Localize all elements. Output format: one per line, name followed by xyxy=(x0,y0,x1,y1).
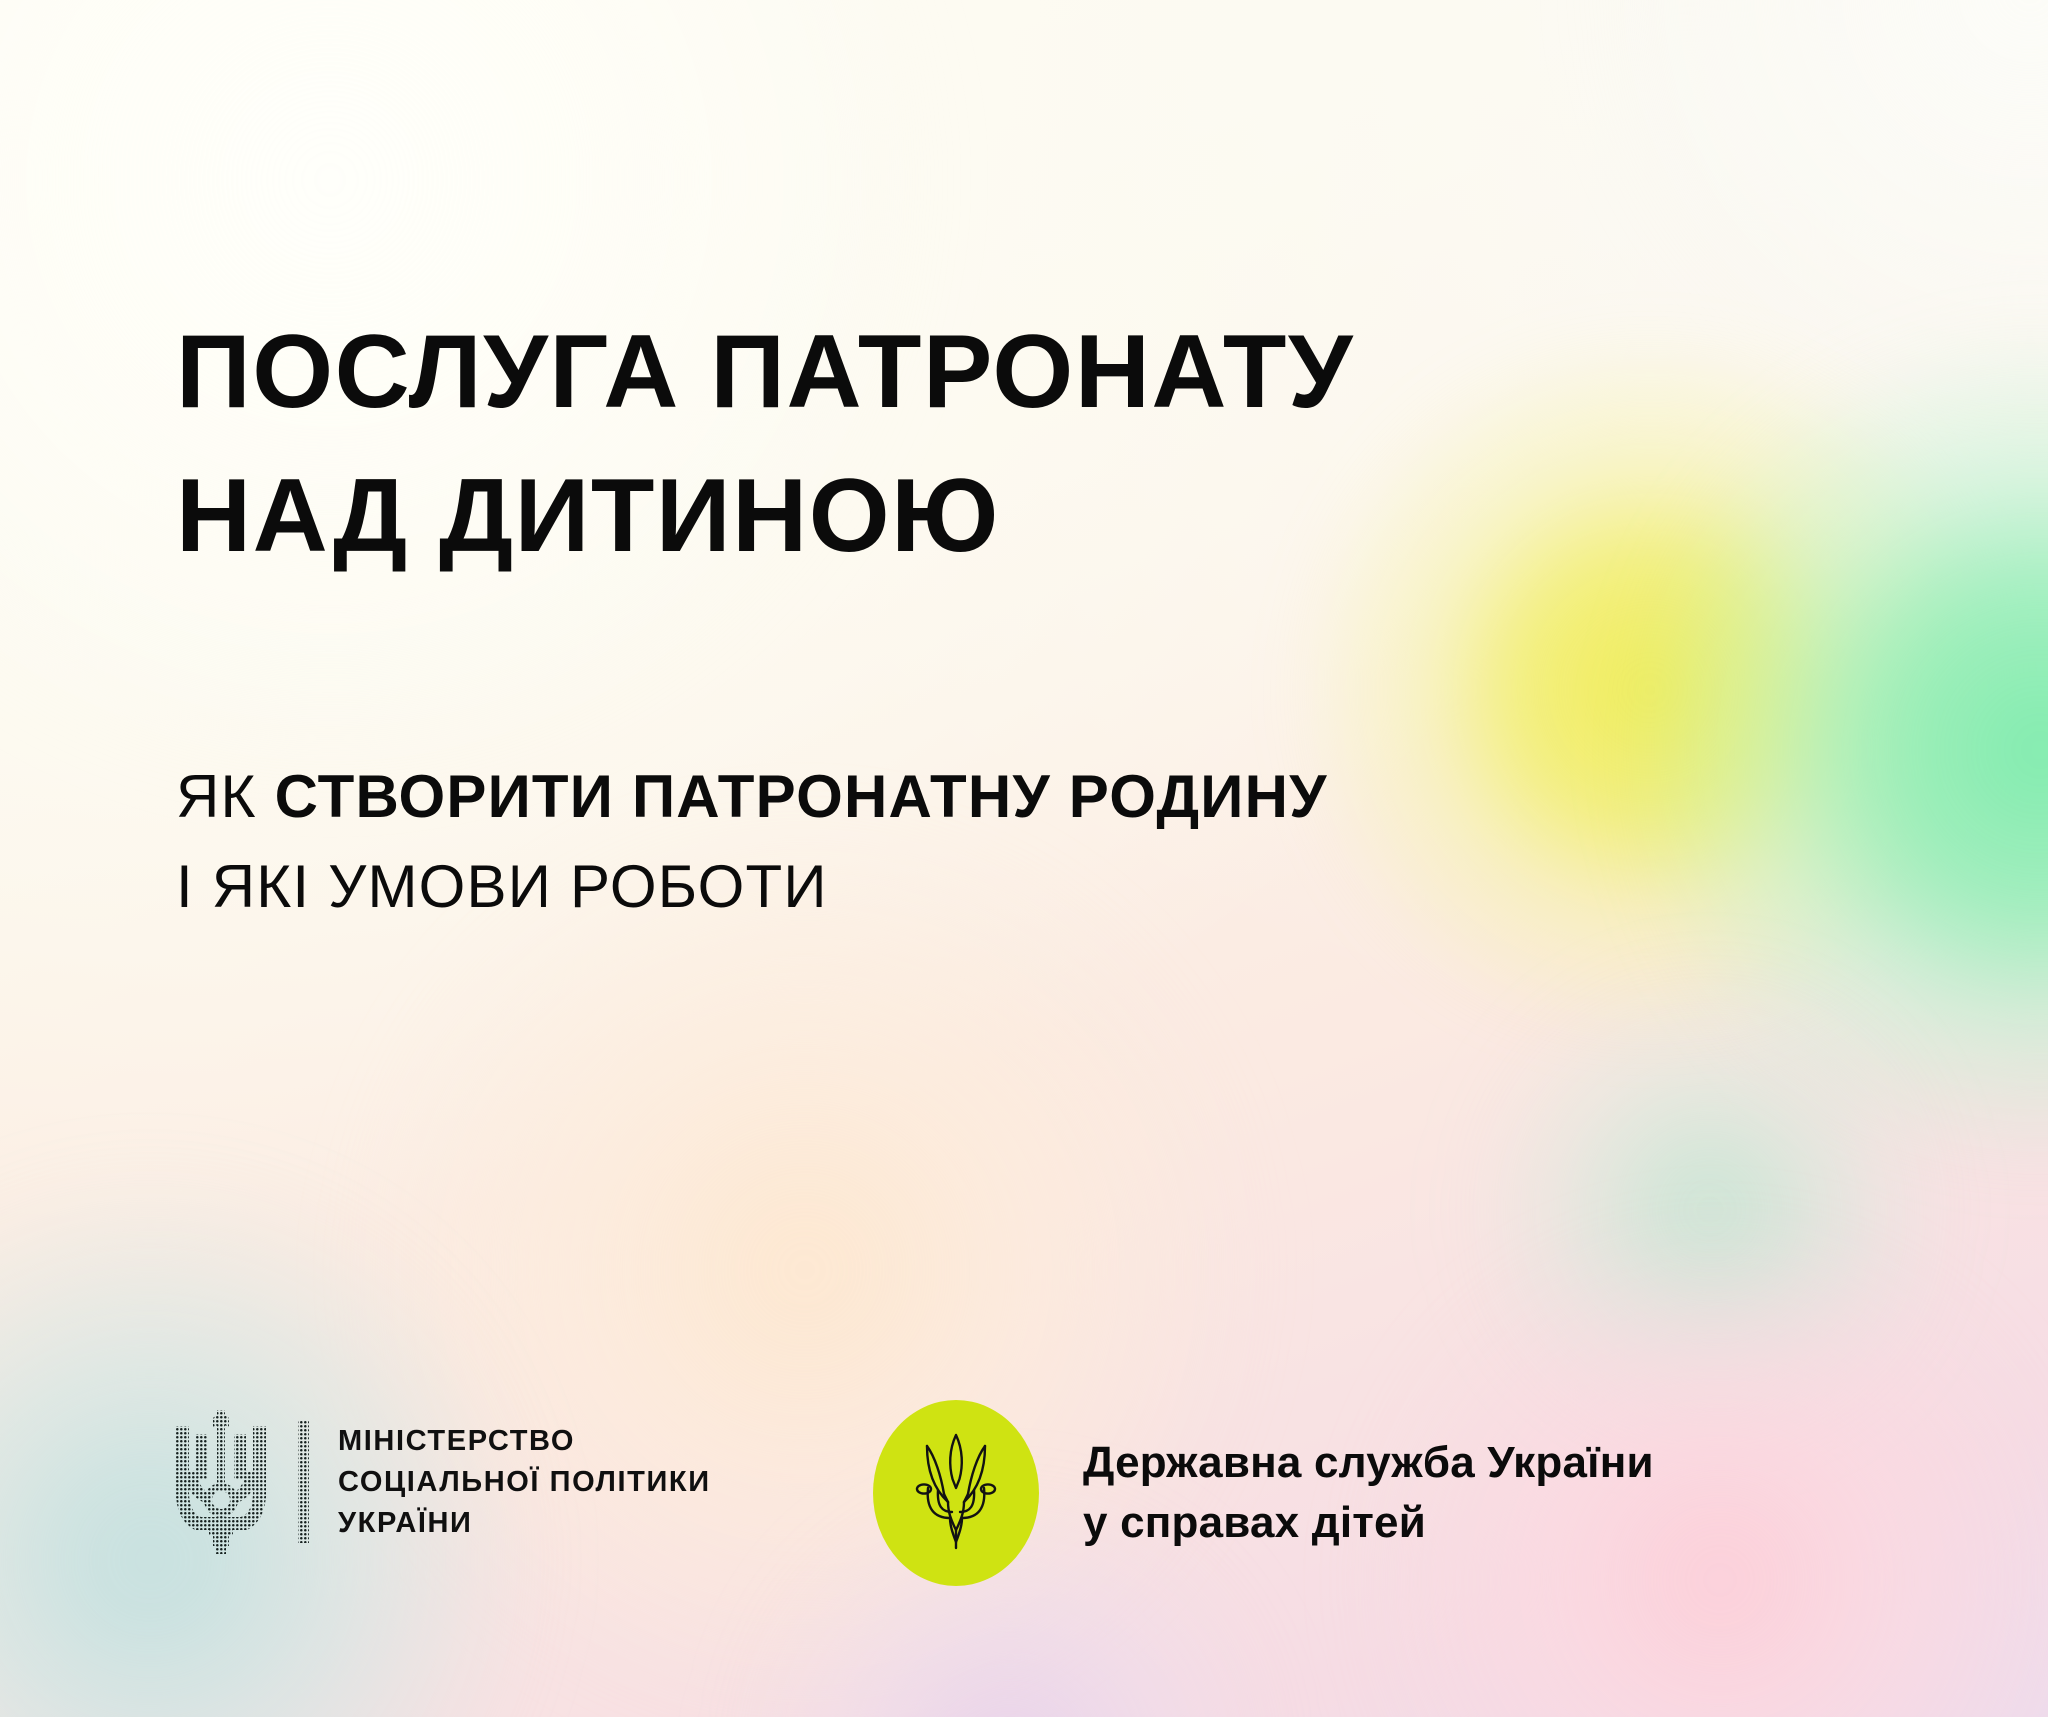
title-line-2: НАД ДИТИНОЮ xyxy=(176,444,1354,588)
ministry-name-line-2: СОЦІАЛЬНОЇ ПОЛІТИКИ xyxy=(338,1462,711,1503)
service-name-line-1: Державна служба України xyxy=(1083,1433,1654,1493)
page-title: ПОСЛУГА ПАТРОНАТУ НАД ДИТИНОЮ xyxy=(176,300,1354,588)
subtitle-line-1: ЯК СТВОРИТИ ПАТРОНАТНУ РОДИНУ xyxy=(176,755,1328,839)
service-logo-lockup: Державна служба України у справах дітей xyxy=(873,1400,1654,1586)
ministry-name: МІНІСТЕРСТВО СОЦІАЛЬНОЇ ПОЛІТИКИ УКРАЇНИ xyxy=(338,1421,711,1544)
page-subtitle: ЯК СТВОРИТИ ПАТРОНАТНУ РОДИНУ І ЯКІ УМОВ… xyxy=(176,755,1328,929)
dotted-trident-icon xyxy=(168,1408,274,1556)
service-name: Державна служба України у справах дітей xyxy=(1083,1433,1654,1553)
footer-logos: МІНІСТЕРСТВО СОЦІАЛЬНОЇ ПОЛІТИКИ УКРАЇНИ xyxy=(0,1400,2048,1600)
trident-outline-icon xyxy=(908,1432,1004,1554)
subtitle-line-2: І ЯКІ УМОВИ РОБОТИ xyxy=(176,845,1328,929)
title-line-1: ПОСЛУГА ПАТРОНАТУ xyxy=(176,300,1354,444)
subtitle-lead-word: ЯК xyxy=(176,763,275,830)
ministry-name-line-3: УКРАЇНИ xyxy=(338,1503,711,1544)
dotted-divider-icon xyxy=(296,1421,312,1543)
service-badge xyxy=(873,1400,1039,1586)
ministry-name-line-1: МІНІСТЕРСТВО xyxy=(338,1421,711,1462)
subtitle-emphasis: СТВОРИТИ ПАТРОНАТНУ РОДИНУ xyxy=(275,763,1328,830)
service-name-line-2: у справах дітей xyxy=(1083,1493,1654,1553)
poster-content: ПОСЛУГА ПАТРОНАТУ НАД ДИТИНОЮ ЯК СТВОРИТ… xyxy=(0,0,2048,1717)
poster-canvas: ПОСЛУГА ПАТРОНАТУ НАД ДИТИНОЮ ЯК СТВОРИТ… xyxy=(0,0,2048,1717)
ministry-logo-lockup: МІНІСТЕРСТВО СОЦІАЛЬНОЇ ПОЛІТИКИ УКРАЇНИ xyxy=(168,1408,711,1556)
